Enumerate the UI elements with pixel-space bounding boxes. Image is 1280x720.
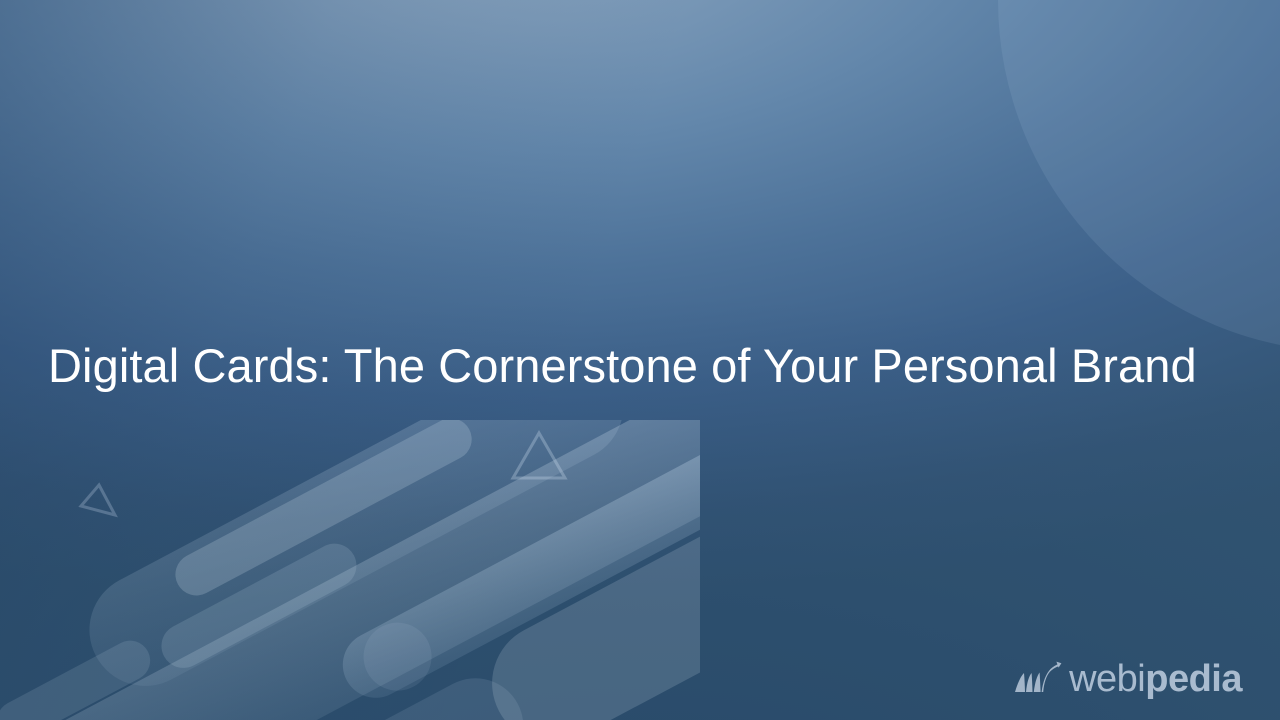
brand-logo-text-bold: pedia	[1145, 658, 1242, 700]
title-slide: Digital Cards: The Cornerstone of Your P…	[0, 0, 1280, 720]
brand-logo-text: webipedia	[1069, 660, 1242, 698]
webipedia-w-arrow-icon	[1013, 661, 1065, 697]
page-title: Digital Cards: The Cornerstone of Your P…	[48, 338, 1243, 394]
triangle-outline-rotated	[81, 485, 115, 515]
diagonal-capsule-pattern	[0, 420, 700, 720]
brand-logo-text-light: webi	[1069, 658, 1145, 700]
brand-logo: webipedia	[1013, 660, 1242, 698]
